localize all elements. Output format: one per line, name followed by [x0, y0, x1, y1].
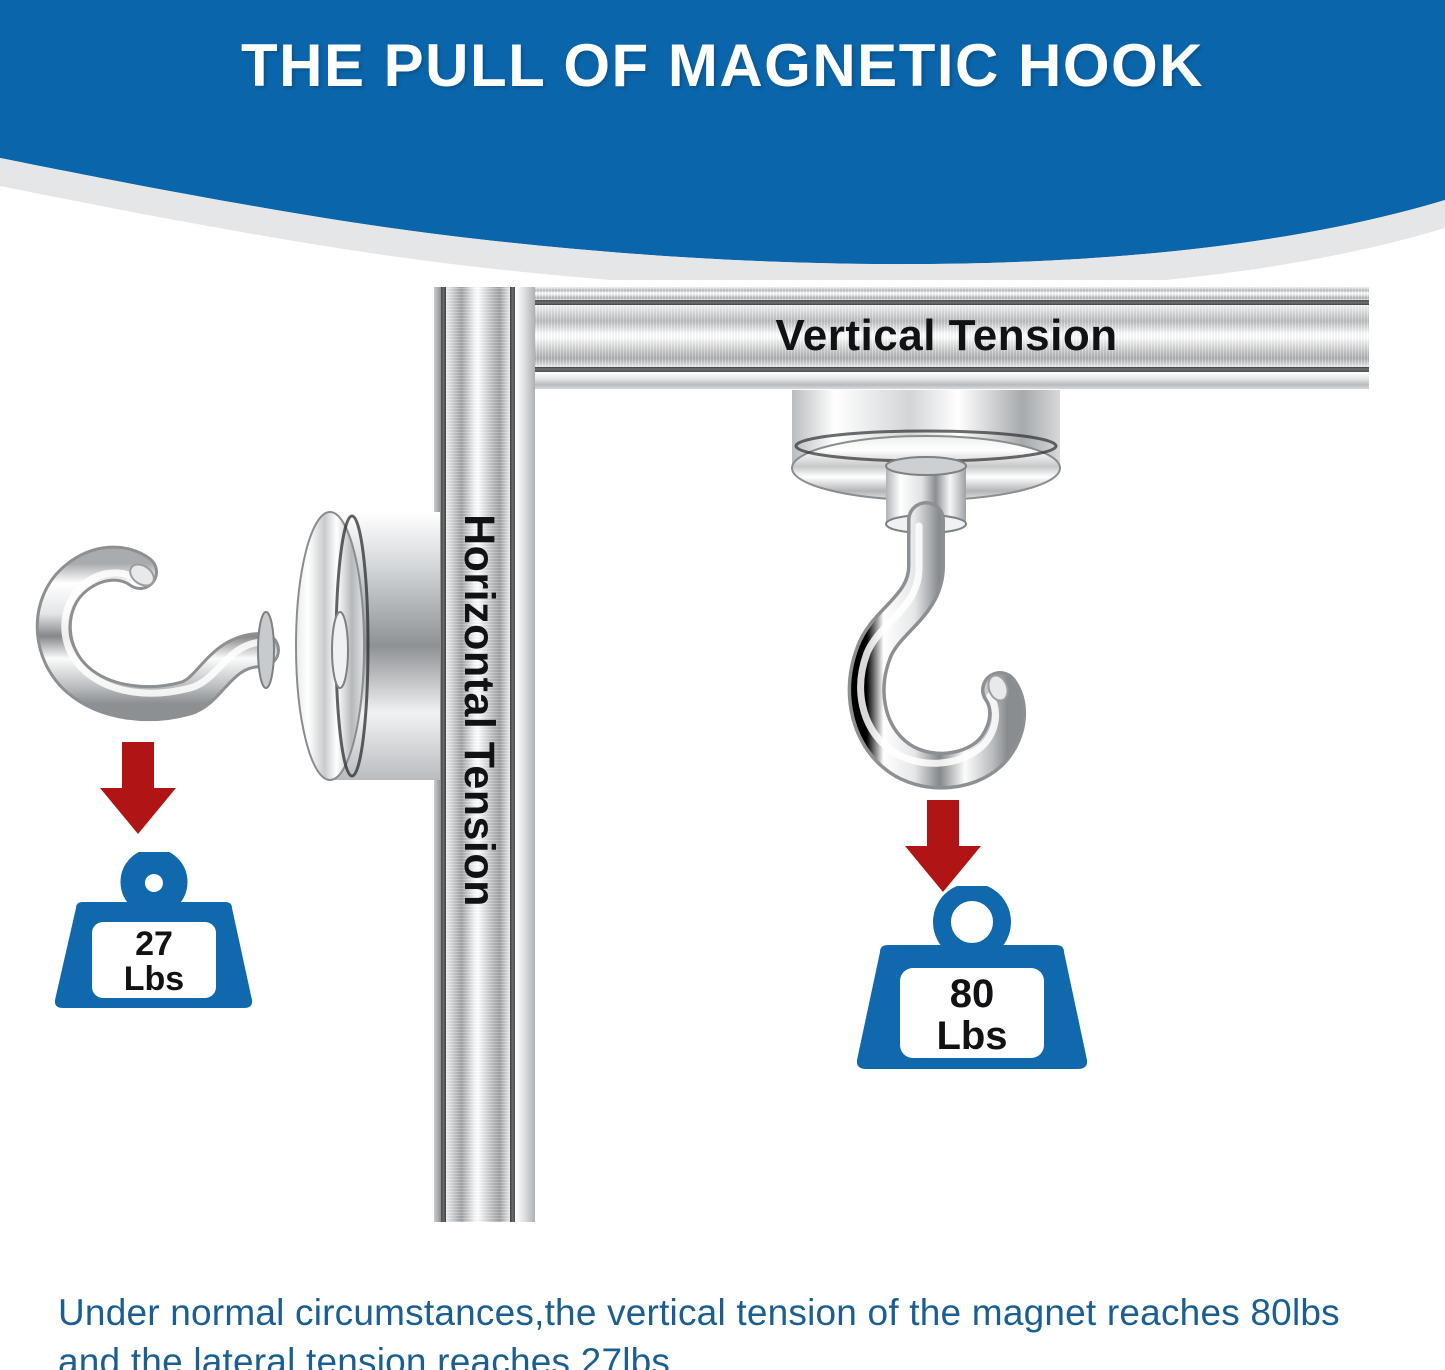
magnetic-hook-vertical: [770, 370, 1110, 810]
magnetic-hook-horizontal: [0, 490, 450, 790]
wall-post-right-edge: [515, 287, 535, 1222]
weight-unit: Lbs: [936, 1014, 1007, 1058]
force-arrow-left: [98, 742, 218, 834]
caption-text: Under normal circumstances,the vertical …: [58, 1288, 1398, 1370]
weight-unit: Lbs: [124, 960, 184, 998]
weight-ring-icon: [942, 892, 1002, 952]
product-infographic: THE PULL OF MAGNETIC HOOK Vertical Tensi…: [0, 0, 1445, 1370]
weight-value: 80: [950, 972, 995, 1016]
vertical-tension-label: Vertical Tension: [524, 305, 1369, 367]
weight-value: 27: [135, 925, 173, 963]
force-arrow-right: [903, 800, 1023, 892]
weight-badge-27lbs: 27 Lbs: [46, 852, 262, 1014]
hook-shank-right: [861, 520, 1007, 771]
weight-badge-80lbs: 80 Lbs: [846, 886, 1098, 1076]
ceiling-bar-top-lip: [524, 287, 1369, 300]
arrow-down-icon: [905, 800, 981, 892]
page-title: THE PULL OF MAGNETIC HOOK: [0, 34, 1445, 97]
wall-post-face: [446, 287, 510, 1222]
header-banner: THE PULL OF MAGNETIC HOOK: [0, 0, 1445, 280]
arrow-down-icon: [100, 742, 176, 834]
